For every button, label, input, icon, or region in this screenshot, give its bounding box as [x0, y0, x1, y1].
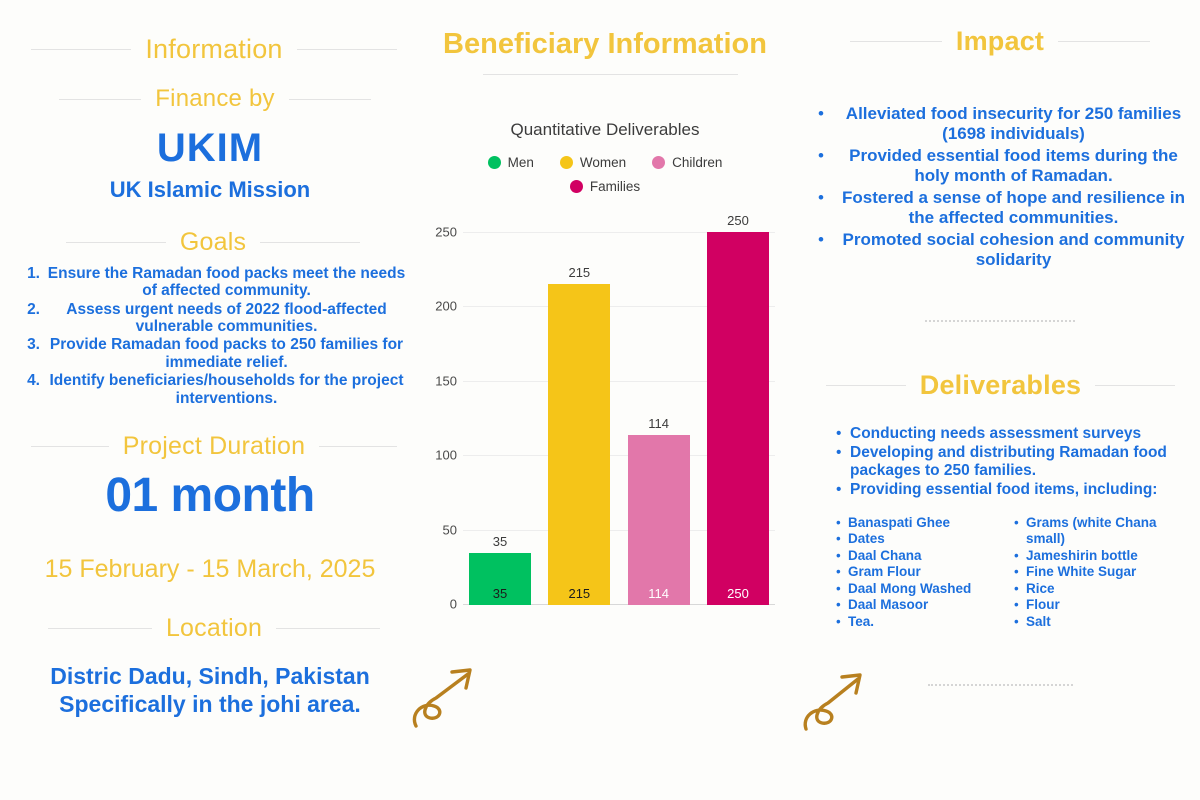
food-items-column-left: • Banaspati Ghee • Dates • Daal Chana • …: [836, 515, 996, 630]
bullet-icon: •: [836, 581, 848, 597]
food-item-text: Flour: [1026, 597, 1174, 613]
dotted-divider-deliverables: [928, 684, 1073, 686]
beneficiary-divider: [483, 74, 738, 75]
food-item: • Daal Masoor: [836, 597, 996, 613]
food-item-text: Salt: [1026, 614, 1174, 630]
legend-swatch-icon: [488, 156, 501, 169]
section-heading-project-duration: Project Duration: [14, 432, 414, 461]
bar-slot-families: 250 250: [707, 232, 769, 605]
heading-label: Impact: [956, 26, 1044, 57]
y-axis-tick-label: 150: [435, 373, 457, 388]
impact-text: Provided essential food items during the…: [833, 146, 1200, 186]
bar-chart-plot: 250 200 150 100 50 0 35 35 215: [455, 232, 775, 605]
section-heading-impact: Impact: [820, 26, 1180, 57]
food-item: • Jameshirin bottle: [1014, 548, 1174, 564]
impact-text: Promoted social cohesion and community s…: [833, 230, 1200, 270]
bar-women[interactable]: 215: [548, 284, 610, 605]
heading-label: Project Duration: [123, 432, 305, 461]
legend-row-primary: Men Women Children: [420, 155, 790, 170]
food-item: • Gram Flour: [836, 564, 996, 580]
divider-line-right: [319, 446, 397, 447]
duration-value: 01 month: [0, 472, 420, 520]
goal-item: 3. Provide Ramadan food packs to 250 fam…: [10, 336, 415, 371]
bullet-icon: •: [1014, 581, 1026, 597]
divider-line-left: [31, 446, 109, 447]
food-item-text: Daal Masoor: [848, 597, 996, 613]
food-item-text: Tea.: [848, 614, 996, 630]
bullet-icon: •: [1014, 548, 1026, 564]
section-heading-beneficiary-information: Beneficiary Information: [420, 28, 790, 61]
impact-text: Alleviated food insecurity for 250 famil…: [833, 104, 1200, 144]
y-axis-tick-label: 250: [435, 225, 457, 240]
bullet-icon: •: [1014, 597, 1026, 613]
bullet-icon: •: [836, 425, 850, 444]
bar-slot-women: 215 215: [548, 232, 610, 605]
divider-line-left: [850, 41, 942, 42]
heading-label: Deliverables: [920, 370, 1082, 401]
bullet-icon: •: [800, 188, 833, 208]
goal-text: Provide Ramadan food packs to 250 famili…: [44, 336, 415, 371]
location-line-2: Specifically in the johi area.: [0, 690, 420, 718]
bar-top-value: 35: [493, 534, 507, 549]
bullet-icon: •: [836, 564, 848, 580]
section-heading-goals: Goals: [28, 228, 398, 257]
goal-number: 3.: [10, 336, 44, 353]
deliverable-item: • Conducting needs assessment surveys: [836, 425, 1181, 444]
goal-number: 4.: [10, 372, 44, 389]
divider-line-left: [826, 385, 906, 386]
section-heading-deliverables: Deliverables: [828, 370, 1173, 401]
location-line-1: Distric Dadu, Sindh, Pakistan: [0, 662, 420, 690]
divider-line-right: [1095, 385, 1175, 386]
food-items-column-right: • Grams (white Chana small) • Jameshirin…: [1014, 515, 1174, 630]
divider-line-right: [1058, 41, 1150, 42]
food-item-text: Gram Flour: [848, 564, 996, 580]
legend-row-secondary: Families: [420, 179, 790, 194]
y-axis-tick-label: 100: [435, 448, 457, 463]
goal-number: 1.: [10, 265, 44, 282]
information-column: Information Finance by UKIM UK Islamic M…: [0, 0, 420, 800]
bar-slot-men: 35 35: [469, 232, 531, 605]
food-item: • Rice: [1014, 581, 1174, 597]
curly-arrow-icon: [798, 665, 878, 745]
food-item: • Fine White Sugar: [1014, 564, 1174, 580]
chart-legend: Men Women Children Families: [420, 155, 790, 194]
divider-line-right: [260, 242, 360, 243]
goals-list: 1. Ensure the Ramadan food packs meet th…: [10, 265, 415, 408]
bullet-icon: •: [836, 614, 848, 630]
legend-swatch-icon: [652, 156, 665, 169]
y-axis-tick-label: 50: [443, 522, 457, 537]
bar-inner-value: 215: [548, 586, 610, 601]
legend-label: Families: [590, 179, 640, 194]
food-item: • Salt: [1014, 614, 1174, 630]
food-item-text: Rice: [1026, 581, 1174, 597]
legend-label: Women: [580, 155, 626, 170]
legend-item-families[interactable]: Families: [570, 179, 640, 194]
impact-item: • Promoted social cohesion and community…: [800, 230, 1200, 270]
divider-line-left: [59, 99, 141, 100]
bullet-icon: •: [836, 444, 850, 463]
infographic-page: Information Finance by UKIM UK Islamic M…: [0, 0, 1200, 800]
deliverable-text: Providing essential food items, includin…: [850, 481, 1181, 500]
bullet-icon: •: [1014, 614, 1026, 630]
food-item: • Daal Mong Washed: [836, 581, 996, 597]
legend-swatch-icon: [570, 180, 583, 193]
goal-text: Identify beneficiaries/households for th…: [44, 372, 415, 407]
section-heading-finance-by: Finance by: [20, 85, 410, 113]
divider-line-right: [276, 628, 380, 629]
bullet-icon: •: [800, 104, 833, 124]
food-item-text: Dates: [848, 531, 996, 547]
bar-children[interactable]: 114: [628, 435, 690, 605]
heading-label: Goals: [180, 228, 246, 257]
bar-inner-value: 35: [469, 586, 531, 601]
bullet-icon: •: [836, 531, 848, 547]
bullet-icon: •: [836, 515, 848, 531]
food-item-text: Jameshirin bottle: [1026, 548, 1174, 564]
deliverable-item: • Developing and distributing Ramadan fo…: [836, 444, 1181, 481]
legend-item-children[interactable]: Children: [652, 155, 722, 170]
y-axis-tick-label: 200: [435, 299, 457, 314]
food-items-columns: • Banaspati Ghee • Dates • Daal Chana • …: [836, 515, 1186, 630]
goal-item: 2. Assess urgent needs of 2022 flood-aff…: [10, 301, 415, 336]
legend-label: Men: [508, 155, 534, 170]
goal-item: 1. Ensure the Ramadan food packs meet th…: [10, 265, 415, 300]
food-item: • Dates: [836, 531, 996, 547]
divider-line-right: [289, 99, 371, 100]
deliverable-text: Conducting needs assessment surveys: [850, 425, 1181, 444]
bar-slot-children: 114 114: [628, 232, 690, 605]
food-item: • Grams (white Chana small): [1014, 515, 1174, 548]
funder-full-name: UK Islamic Mission: [0, 178, 420, 202]
food-item: • Banaspati Ghee: [836, 515, 996, 531]
bar-group: 35 35 215 215 114 114 250 250: [463, 232, 775, 605]
impact-item: • Fostered a sense of hope and resilienc…: [800, 188, 1200, 228]
legend-swatch-icon: [560, 156, 573, 169]
section-heading-information: Information: [14, 34, 414, 65]
impact-item: • Provided essential food items during t…: [800, 146, 1200, 186]
legend-item-men[interactable]: Men: [488, 155, 534, 170]
divider-line-left: [48, 628, 152, 629]
section-heading-location: Location: [14, 614, 414, 643]
bar-inner-value: 114: [628, 586, 690, 601]
food-item-text: Fine White Sugar: [1026, 564, 1174, 580]
bar-top-value: 114: [648, 416, 669, 431]
bullet-icon: •: [836, 481, 850, 500]
bullet-icon: •: [800, 230, 833, 250]
bar-top-value: 250: [727, 213, 749, 228]
goal-item: 4. Identify beneficiaries/households for…: [10, 372, 415, 407]
heading-label: Finance by: [155, 85, 274, 113]
heading-label: Location: [166, 614, 262, 643]
divider-line-right: [297, 49, 397, 50]
y-axis-tick-label: 0: [450, 597, 457, 612]
impact-text: Fostered a sense of hope and resilience …: [833, 188, 1200, 228]
deliverable-text: Developing and distributing Ramadan food…: [850, 444, 1181, 481]
bullet-icon: •: [1014, 515, 1026, 531]
food-item: • Tea.: [836, 614, 996, 630]
food-item-text: Banaspati Ghee: [848, 515, 996, 531]
food-item-text: Daal Chana: [848, 548, 996, 564]
legend-label: Children: [672, 155, 722, 170]
dotted-divider-impact: [925, 320, 1075, 322]
bar-men[interactable]: 35: [469, 553, 531, 605]
food-item: • Flour: [1014, 597, 1174, 613]
impact-item: • Alleviated food insecurity for 250 fam…: [800, 104, 1200, 144]
funder-abbreviation: UKIM: [0, 128, 420, 168]
bullet-icon: •: [836, 597, 848, 613]
heading-label: Information: [145, 34, 282, 65]
divider-line-left: [66, 242, 166, 243]
impact-list: • Alleviated food insecurity for 250 fam…: [800, 104, 1200, 272]
food-item-text: Daal Mong Washed: [848, 581, 996, 597]
goal-text: Ensure the Ramadan food packs meet the n…: [44, 265, 415, 300]
legend-item-women[interactable]: Women: [560, 155, 626, 170]
bullet-icon: •: [1014, 564, 1026, 580]
bullet-icon: •: [836, 548, 848, 564]
duration-date-range: 15 February - 15 March, 2025: [0, 555, 420, 584]
bar-families[interactable]: 250: [707, 232, 769, 605]
goal-text: Assess urgent needs of 2022 flood-affect…: [44, 301, 415, 336]
chart-title: Quantitative Deliverables: [420, 120, 790, 140]
deliverable-item: • Providing essential food items, includ…: [836, 481, 1181, 500]
curly-arrow-icon: [408, 658, 488, 738]
location-text: Distric Dadu, Sindh, Pakistan Specifical…: [0, 662, 420, 718]
divider-line-left: [31, 49, 131, 50]
bar-inner-value: 250: [707, 586, 769, 601]
bar-top-value: 215: [568, 265, 590, 280]
deliverables-list: • Conducting needs assessment surveys • …: [836, 425, 1181, 499]
bullet-icon: •: [800, 146, 833, 166]
food-item: • Daal Chana: [836, 548, 996, 564]
goal-number: 2.: [10, 301, 44, 318]
food-item-text: Grams (white Chana small): [1026, 515, 1174, 548]
